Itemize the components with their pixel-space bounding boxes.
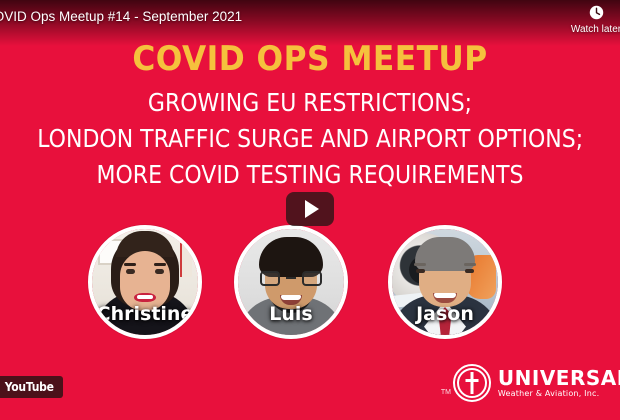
- play-triangle-icon: [305, 200, 319, 218]
- logo-tagline: Weather & Aviation, Inc.: [498, 390, 620, 398]
- slide-subtitle-line-1: GROWING EU RESTRICTIONS;: [37, 90, 583, 115]
- presenter-portrait-luis: Luis: [234, 225, 348, 339]
- youtube-watermark-label: YouTube: [5, 380, 54, 394]
- presenter-portrait-jason: Jason: [388, 225, 502, 339]
- globe-emblem-icon: [453, 364, 491, 402]
- presenter-name-label: Jason: [392, 303, 498, 325]
- trademark-symbol: TM: [441, 389, 451, 396]
- clock-icon: [588, 4, 605, 21]
- slide-heading: COVID OPS MEETUP: [25, 42, 595, 76]
- presenter-name-label: Luis: [238, 303, 344, 325]
- play-button[interactable]: [286, 192, 334, 226]
- logo-brand-name: UNIVERSAL: [498, 368, 620, 388]
- video-title[interactable]: COVID Ops Meetup #14 - September 2021: [0, 9, 242, 24]
- watch-later-label: Watch later: [558, 24, 620, 35]
- video-player[interactable]: COVID OPS MEETUP GROWING EU RESTRICTIONS…: [0, 0, 620, 420]
- presenter-portrait-christine: Christine: [88, 225, 202, 339]
- watch-later-button[interactable]: Watch later: [558, 4, 620, 35]
- slide-subtitle-line-3: MORE COVID TESTING REQUIREMENTS: [37, 162, 583, 187]
- universal-logo: TM UNIVERSAL Weather & Aviation, Inc.: [453, 364, 620, 402]
- youtube-watermark[interactable]: YouTube: [0, 376, 63, 398]
- presenter-name-label: Christine: [92, 303, 198, 325]
- presenter-portrait-group: Christine Luis: [0, 225, 620, 345]
- slide-subtitle-line-2: LONDON TRAFFIC SURGE AND AIRPORT OPTIONS…: [37, 126, 583, 151]
